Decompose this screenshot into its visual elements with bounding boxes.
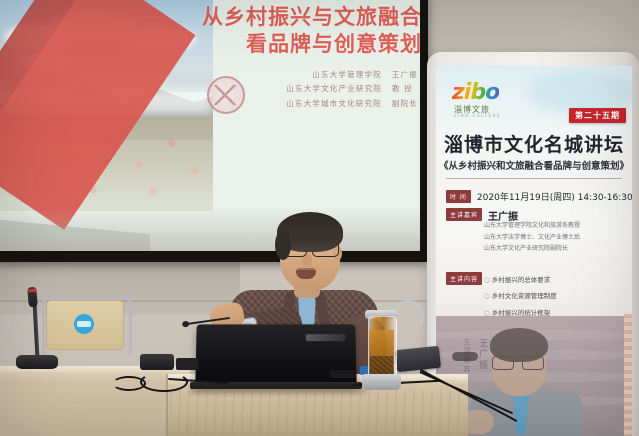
credit-role: 副院长	[392, 97, 418, 111]
laptop-brand-badge	[306, 334, 346, 341]
credit-org: 山东大学文化产业研究院	[286, 82, 382, 96]
topic-item: 乡村振兴的总体要求	[484, 272, 632, 288]
lecture-hall-photo: 从乡村振兴与文旅融合 看品牌与创意策划 山东大学管理学院 王广振 山东大学文化产…	[0, 0, 639, 436]
desk-device-small	[176, 358, 198, 370]
desk-device-black	[140, 354, 174, 370]
credit-row: 山东大学城市文化研究院 副院长	[212, 97, 418, 111]
topic-item: 乡村文化资源管理制度	[484, 288, 632, 304]
banner-topics-row: 主讲内容	[446, 272, 482, 285]
banner-speaker-tag: 主讲嘉宾	[446, 208, 482, 221]
banner-topics-list: 乡村振兴的总体要求 乡村文化资源管理制度 乡村振兴的统计框架	[484, 272, 632, 321]
projection-screen: 从乡村振兴与文旅融合 看品牌与创意策划 山东大学管理学院 王广振 山东大学文化产…	[0, 0, 420, 251]
bio-line: 山东大学法学博士、文化产业博士后	[484, 232, 632, 244]
banner-time-tag: 时 间	[446, 190, 471, 203]
thermos-base	[362, 374, 401, 390]
credit-row: 山东大学文化产业研究院 教 授	[212, 82, 418, 96]
speaker-hair-side	[275, 230, 291, 260]
tea-leaves	[370, 356, 393, 376]
laptop-shadow	[190, 388, 366, 393]
banner-topics-tag: 主讲内容	[446, 272, 482, 285]
usb-dongle-black	[330, 370, 356, 378]
slide-title-line1: 从乡村振兴与文旅融合	[200, 4, 420, 31]
credit-role: 王广振	[392, 68, 418, 82]
issue-badge: 第二十五期	[569, 108, 626, 123]
banner-time-row: 时 间 2020年11月19日(周四) 14:30-16:30	[446, 190, 632, 203]
bio-line: 山东大学管理学院文化和旅游系教授	[484, 220, 632, 232]
secondary-microphone-base	[452, 352, 478, 361]
zibo-logo: zibo 淄博文旅 ZIBO CULTURE	[452, 80, 526, 120]
banner-divider	[446, 178, 622, 179]
zibo-logo-pinyin: ZIBO CULTURE	[454, 113, 501, 118]
credit-org: 山东大学管理学院	[312, 68, 382, 82]
slide-title: 从乡村振兴与文旅融合 看品牌与创意策划	[200, 4, 420, 59]
slide-title-line2: 看品牌与创意策划	[200, 31, 420, 58]
banner-time-value: 2020年11月19日(周四) 14:30-16:30	[477, 190, 632, 203]
coiled-cable	[112, 376, 146, 391]
credit-role: 教 授	[392, 82, 418, 96]
credit-row: 山东大学管理学院 王广振	[212, 68, 418, 82]
coiled-cable	[140, 372, 188, 392]
credit-org: 山东大学城市文化研究院	[286, 97, 382, 111]
speaker-mouth	[296, 268, 316, 279]
presentation-slide: 从乡村振兴与文旅融合 看品牌与创意策划 山东大学管理学院 王广振 山东大学文化产…	[0, 0, 420, 251]
desk-wood-grain	[170, 390, 460, 434]
banner-right-edge-pattern	[624, 314, 632, 436]
bio-line: 山东大学文化产业研究院副院长	[484, 243, 632, 255]
banner-title: 淄博市文化名城讲坛	[436, 130, 632, 157]
slide-credits: 山东大学管理学院 王广振 山东大学文化产业研究院 教 授 山东大学城市文化研究院…	[212, 68, 418, 111]
banner-subtitle: 《从乡村振兴和文旅融合看品牌与创意策划》	[436, 158, 632, 172]
smartphone	[395, 346, 441, 372]
chair-logo-icon	[74, 314, 94, 334]
microphone-base	[16, 355, 58, 369]
zibo-wordmark: zibo	[452, 80, 499, 105]
banner-speaker-bio: 山东大学管理学院文化和旅游系教授 山东大学法学博士、文化产业博士后 山东大学文化…	[484, 220, 632, 255]
